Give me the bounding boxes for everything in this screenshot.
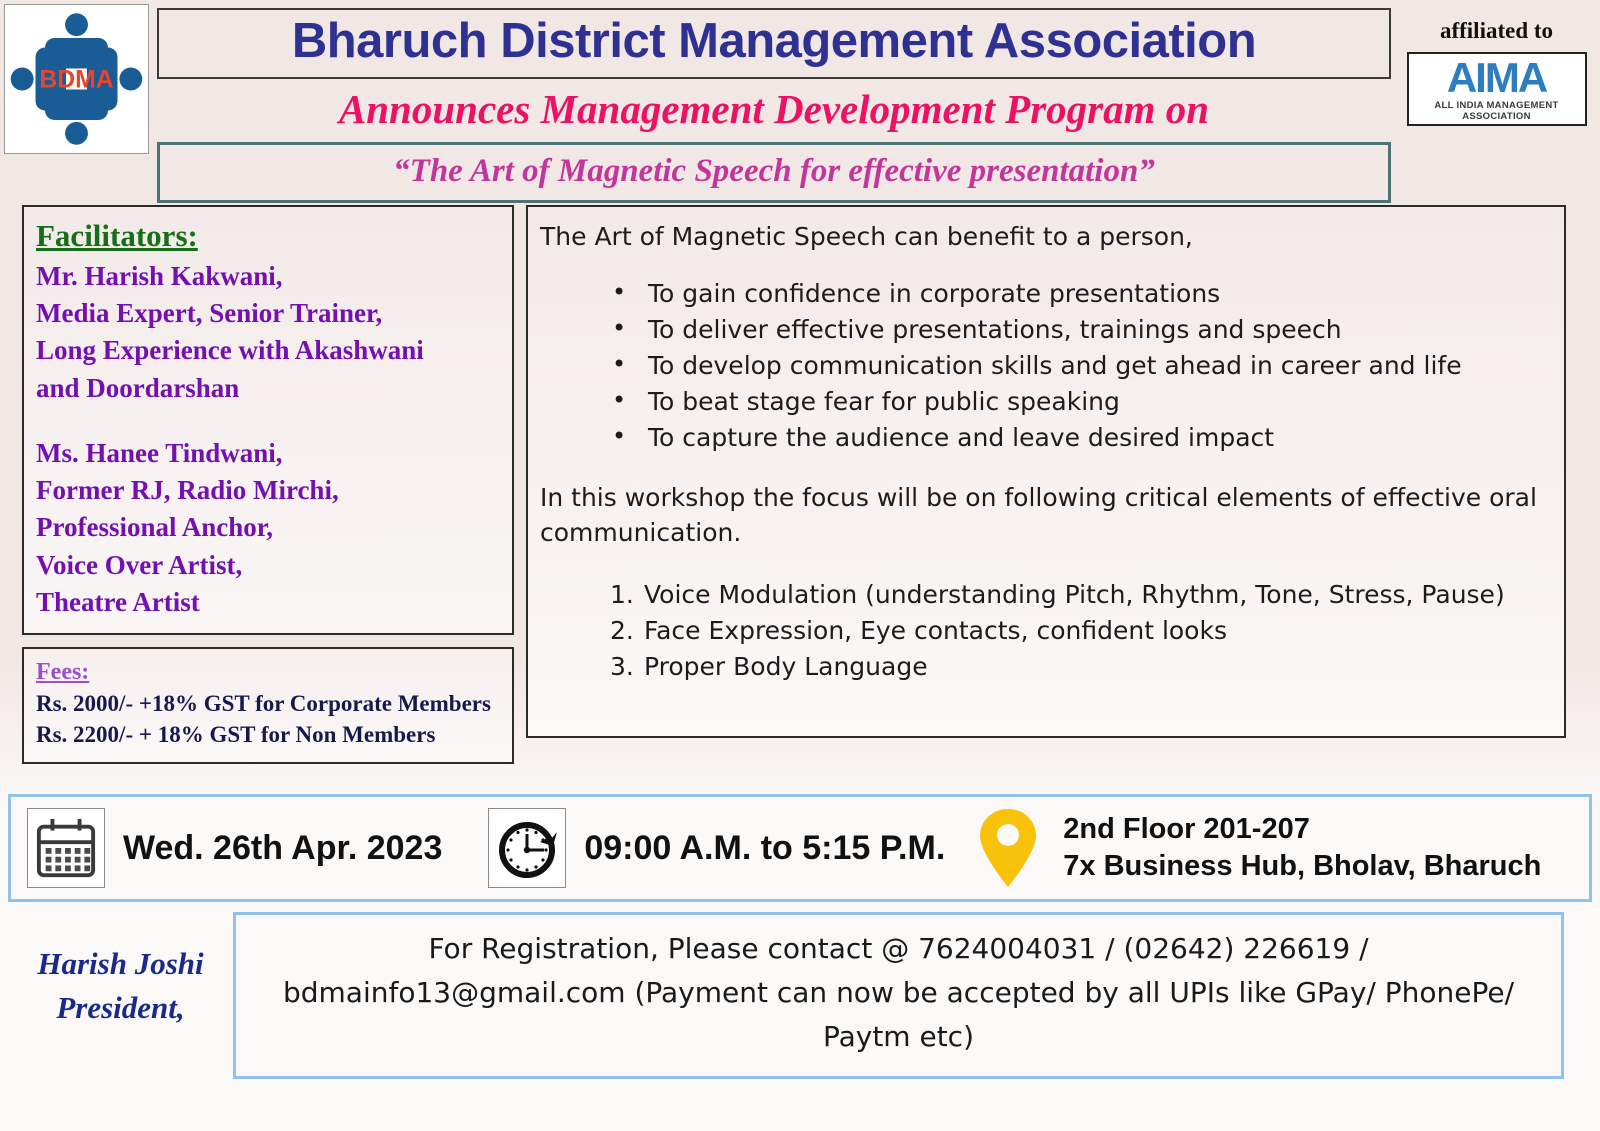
facilitator-2-line-2: Professional Anchor, bbox=[36, 509, 500, 546]
facilitators-spacer bbox=[36, 407, 500, 435]
calendar-icon bbox=[27, 808, 105, 888]
left-column: Facilitators: Mr. Harish Kakwani, Media … bbox=[22, 205, 514, 764]
org-title-box: Bharuch District Management Association bbox=[157, 8, 1391, 79]
venue-line-2: 7x Business Hub, Bholav, Bharuch bbox=[1063, 848, 1541, 885]
poster-footer: Harish Joshi President, For Registration… bbox=[0, 912, 1600, 1079]
benefit-item: To gain confidence in corporate presenta… bbox=[612, 276, 1546, 312]
location-pin-icon-glyph bbox=[978, 807, 1038, 889]
header-center: Bharuch District Management Association … bbox=[149, 4, 1399, 203]
fees-line-non-member: Rs. 2200/- + 18% GST for Non Members bbox=[36, 719, 500, 750]
facilitator-2-line-1: Former RJ, Radio Mirchi, bbox=[36, 472, 500, 509]
venue-line-1: 2nd Floor 201-207 bbox=[1063, 811, 1541, 848]
clock-icon bbox=[488, 808, 566, 888]
element-item: Proper Body Language bbox=[610, 649, 1546, 685]
event-venue: 2nd Floor 201-207 7x Business Hub, Bhola… bbox=[1063, 811, 1541, 885]
fees-panel: Fees: Rs. 2000/- +18% GST for Corporate … bbox=[22, 647, 514, 764]
poster-body: Facilitators: Mr. Harish Kakwani, Media … bbox=[0, 205, 1600, 764]
program-title: “The Art of Magnetic Speech for effectiv… bbox=[170, 153, 1378, 190]
right-column: The Art of Magnetic Speech can benefit t… bbox=[526, 205, 1566, 738]
facilitator-1-line-3: and Doordarshan bbox=[36, 370, 500, 407]
affiliation-block: affiliated to AIMA ALL INDIA MANAGEMENT … bbox=[1399, 4, 1594, 126]
event-info-bar: Wed. 26th Apr. 2023 09:00 A.M. to 5:15 P… bbox=[8, 794, 1592, 902]
location-pin-icon bbox=[967, 808, 1049, 888]
clock-icon-glyph bbox=[495, 816, 559, 880]
registration-text: For Registration, Please contact @ 76240… bbox=[258, 927, 1539, 1058]
fees-heading: Fees: bbox=[36, 657, 500, 688]
affiliated-label: affiliated to bbox=[1399, 18, 1594, 44]
aima-full-name: ALL INDIA MANAGEMENT ASSOCIATION bbox=[1411, 99, 1583, 122]
facilitators-panel: Facilitators: Mr. Harish Kakwani, Media … bbox=[22, 205, 514, 635]
president-signature: Harish Joshi President, bbox=[8, 912, 233, 1030]
bdma-logo: BDMA bbox=[4, 4, 149, 154]
benefit-item: To capture the audience and leave desire… bbox=[612, 420, 1546, 456]
svg-text:BDMA: BDMA bbox=[39, 67, 113, 94]
element-item: Face Expression, Eye contacts, confident… bbox=[610, 613, 1546, 649]
fees-line-corporate: Rs. 2000/- +18% GST for Corporate Member… bbox=[36, 688, 500, 719]
focus-paragraph: In this workshop the focus will be on fo… bbox=[540, 480, 1546, 551]
facilitator-1-line-2: Long Experience with Akashwani bbox=[36, 332, 500, 369]
program-details-panel: The Art of Magnetic Speech can benefit t… bbox=[526, 205, 1566, 738]
registration-panel: For Registration, Please contact @ 76240… bbox=[233, 912, 1564, 1079]
calendar-icon-glyph bbox=[35, 817, 97, 879]
benefits-intro: The Art of Magnetic Speech can benefit t… bbox=[540, 221, 1546, 254]
org-title: Bharuch District Management Association bbox=[169, 16, 1379, 67]
elements-list: Voice Modulation (understanding Pitch, R… bbox=[540, 577, 1546, 685]
facilitator-1-line-0: Mr. Harish Kakwani, bbox=[36, 258, 500, 295]
event-time: 09:00 A.M. to 5:15 P.M. bbox=[584, 829, 945, 868]
benefit-item: To beat stage fear for public speaking bbox=[612, 384, 1546, 420]
president-title: President, bbox=[8, 986, 233, 1030]
event-date: Wed. 26th Apr. 2023 bbox=[123, 829, 442, 868]
facilitators-heading: Facilitators: bbox=[36, 217, 500, 256]
benefit-item: To deliver effective presentations, trai… bbox=[612, 312, 1546, 348]
poster-header: BDMA Bharuch District Management Associa… bbox=[0, 0, 1600, 205]
benefit-item: To develop communication skills and get … bbox=[612, 348, 1546, 384]
facilitator-2-line-0: Ms. Hanee Tindwani, bbox=[36, 435, 500, 472]
aima-logo-text: AIMA bbox=[1411, 58, 1583, 98]
program-title-box: “The Art of Magnetic Speech for effectiv… bbox=[157, 142, 1391, 203]
benefits-list: To gain confidence in corporate presenta… bbox=[540, 276, 1546, 456]
facilitator-2-line-4: Theatre Artist bbox=[36, 584, 500, 621]
facilitator-1-line-1: Media Expert, Senior Trainer, bbox=[36, 295, 500, 332]
announce-line: Announces Management Development Program… bbox=[157, 87, 1391, 132]
bdma-logo-icon: BDMA bbox=[5, 5, 148, 153]
element-item: Voice Modulation (understanding Pitch, R… bbox=[610, 577, 1546, 613]
president-name: Harish Joshi bbox=[8, 942, 233, 986]
facilitator-2-line-3: Voice Over Artist, bbox=[36, 547, 500, 584]
aima-logo: AIMA ALL INDIA MANAGEMENT ASSOCIATION bbox=[1407, 52, 1587, 126]
